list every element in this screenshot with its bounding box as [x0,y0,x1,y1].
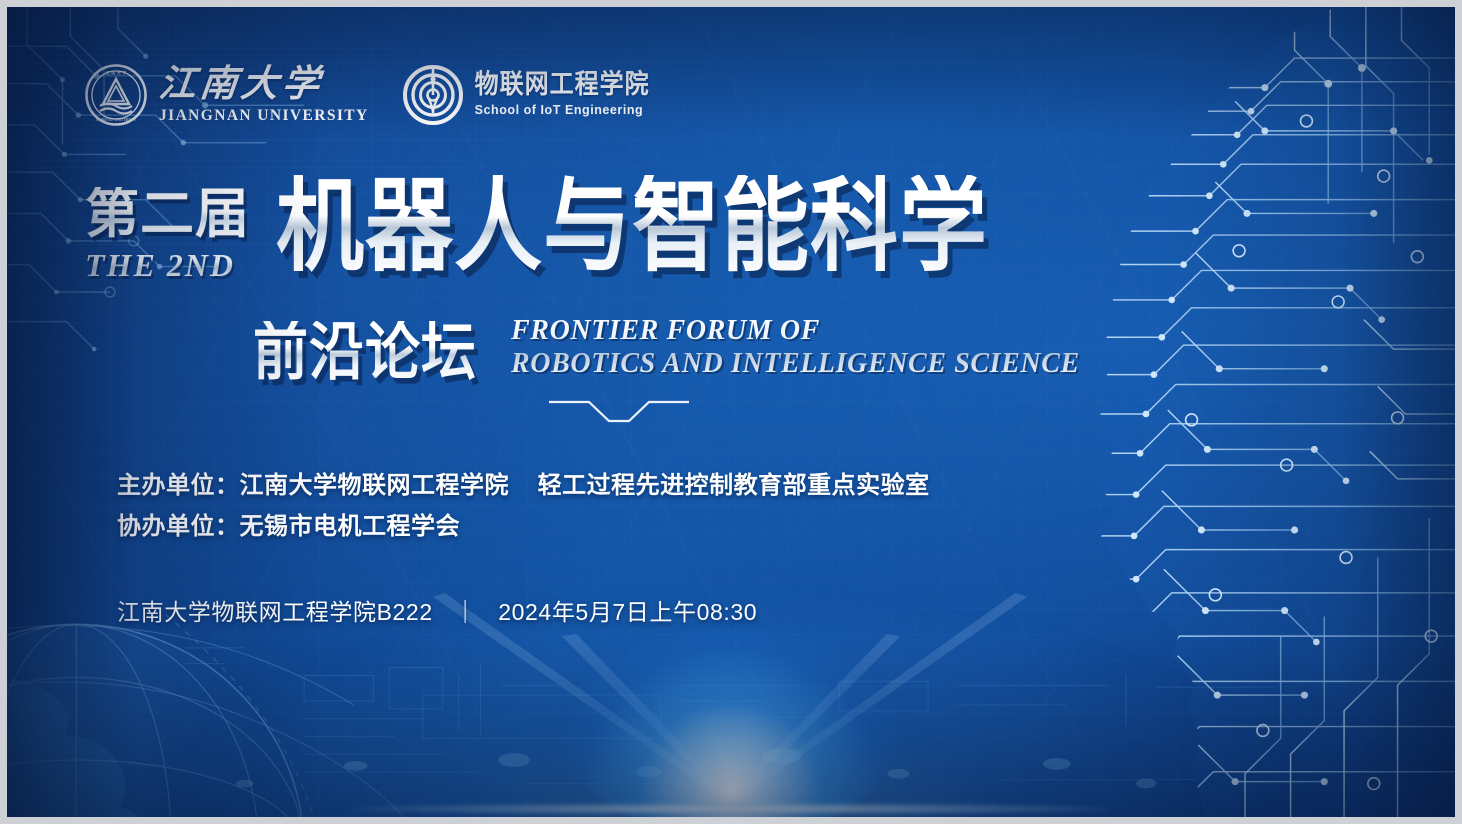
background-vignette [7,7,1455,817]
poster-slide: 江 南 大 学 JIANGNAN UNIVERSITY 江南大学 JIANGNA… [0,0,1462,824]
